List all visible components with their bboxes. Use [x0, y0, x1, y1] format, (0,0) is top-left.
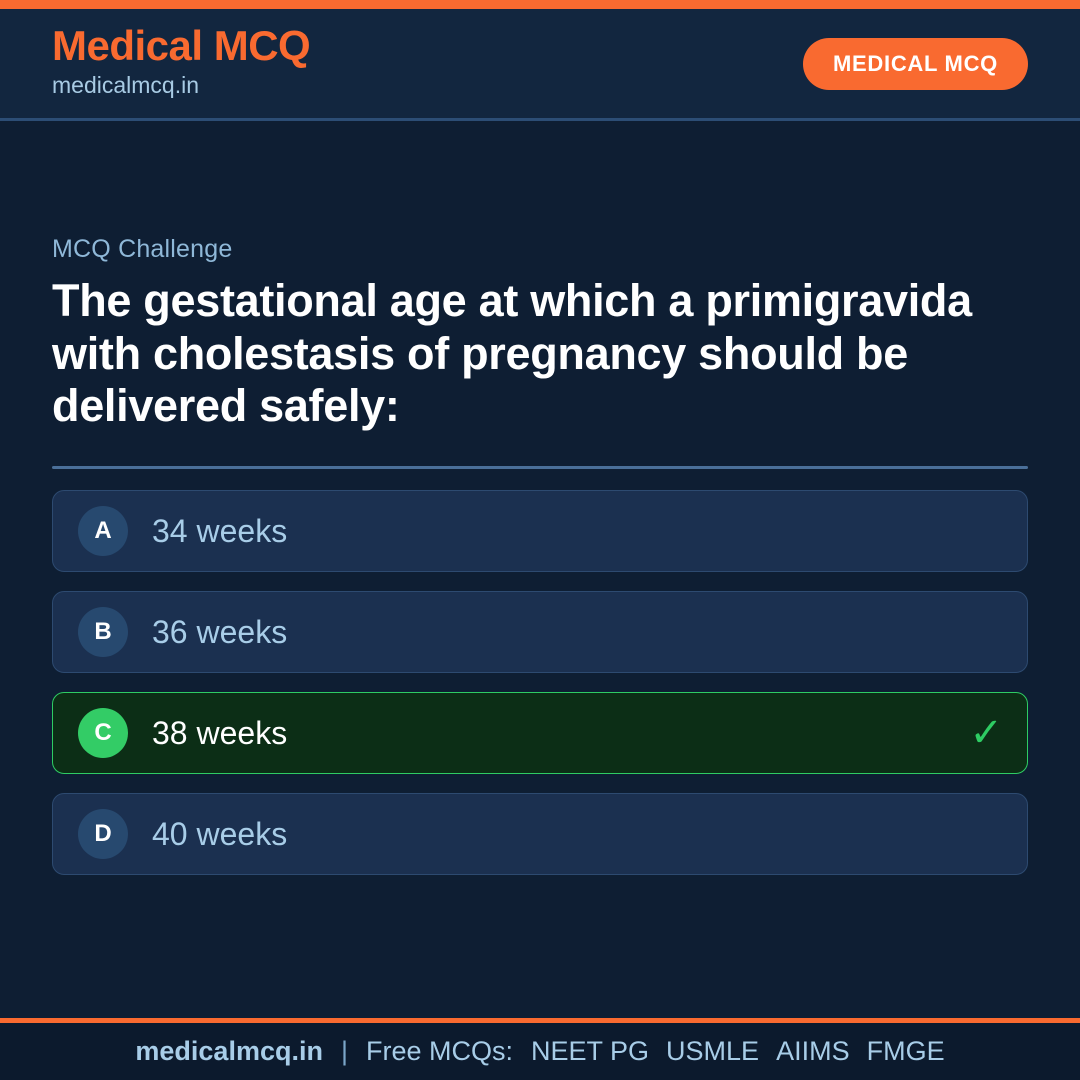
brand-subtitle: medicalmcq.in — [52, 68, 310, 103]
footer-label: Free MCQs: — [366, 1036, 513, 1067]
top-accent-bar — [0, 0, 1080, 9]
option-label: 36 weeks — [152, 616, 287, 648]
footer-exam-item: AIIMS — [776, 1036, 850, 1067]
option-label: 34 weeks — [152, 515, 287, 547]
footer-content: medicalmcq.in | Free MCQs: NEET PG USMLE… — [135, 1036, 944, 1067]
option-letter-badge: B — [78, 607, 128, 657]
option-letter-badge: A — [78, 506, 128, 556]
option-letter-badge: C — [78, 708, 128, 758]
option-row-c[interactable]: C 38 weeks ✓ — [52, 692, 1028, 774]
footer-exam-item: NEET PG — [531, 1036, 649, 1067]
brand-title: Medical MCQ — [52, 24, 310, 67]
mcq-card: Medical MCQ medicalmcq.in MEDICAL MCQ MC… — [0, 0, 1080, 1080]
option-row-d[interactable]: D 40 weeks ✓ — [52, 793, 1028, 875]
section-divider — [52, 466, 1028, 469]
options-list: A 34 weeks ✓ B 36 weeks ✓ C 38 weeks ✓ D… — [52, 490, 1028, 875]
option-row-b[interactable]: B 36 weeks ✓ — [52, 591, 1028, 673]
footer: medicalmcq.in | Free MCQs: NEET PG USMLE… — [0, 1018, 1080, 1080]
option-letter-badge: D — [78, 809, 128, 859]
check-icon: ✓ — [969, 713, 1003, 753]
footer-exam-item: USMLE — [666, 1036, 759, 1067]
footer-exam-item: FMGE — [867, 1036, 945, 1067]
option-row-a[interactable]: A 34 weeks ✓ — [52, 490, 1028, 572]
question-text: The gestational age at which a primigrav… — [52, 275, 1028, 433]
eyebrow-label: MCQ Challenge — [52, 235, 1028, 264]
footer-exam-list: NEET PG USMLE AIIMS FMGE — [531, 1036, 945, 1067]
footer-site: medicalmcq.in — [135, 1036, 323, 1067]
brand: Medical MCQ medicalmcq.in — [52, 24, 310, 103]
footer-separator: | — [341, 1036, 348, 1067]
option-label: 40 weeks — [152, 818, 287, 850]
question-area: MCQ Challenge The gestational age at whi… — [0, 121, 1080, 1018]
option-label: 38 weeks — [152, 717, 287, 749]
header-badge: MEDICAL MCQ — [803, 38, 1028, 90]
header: Medical MCQ medicalmcq.in MEDICAL MCQ — [0, 9, 1080, 121]
